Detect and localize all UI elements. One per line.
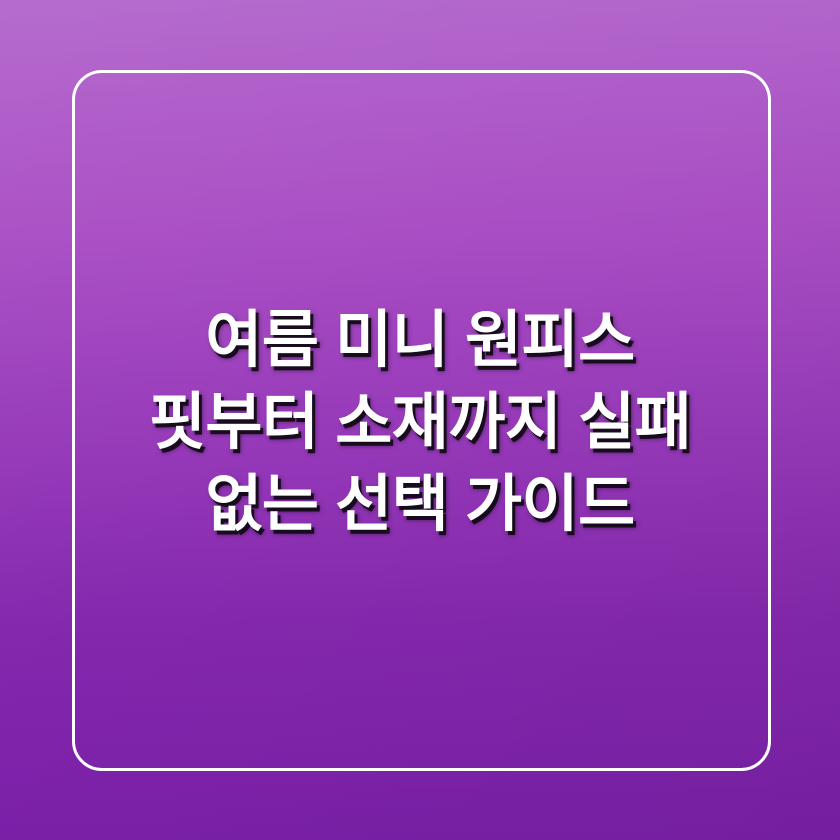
headline-text: 여름 미니 원피스 핏부터 소재까지 실패 없는 선택 가이드: [90, 300, 750, 545]
poster-content: 여름 미니 원피스 핏부터 소재까지 실패 없는 선택 가이드: [0, 0, 840, 840]
poster-canvas: 여름 미니 원피스 핏부터 소재까지 실패 없는 선택 가이드: [0, 0, 840, 840]
